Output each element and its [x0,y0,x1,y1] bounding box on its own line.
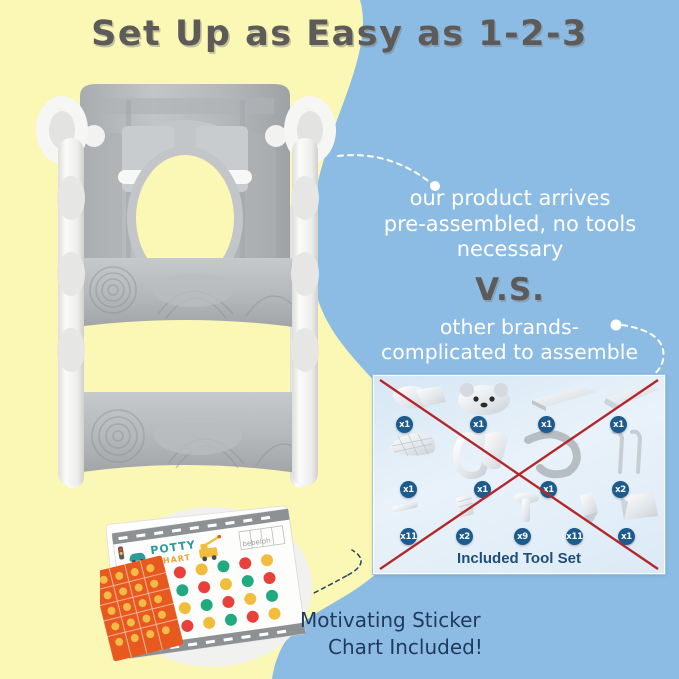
sticker-caption-line-1: Motivating Sticker [300,608,481,632]
sticker-chart-caption: Motivating Sticker Chart Included! [300,607,600,661]
infographic-canvas: Set Up as Easy as 1-2-3 [0,0,679,679]
sticker-caption-line-2: Chart Included! [300,634,600,661]
red-cross-out-icon [374,376,664,573]
callout-other-brands: other brands- complicated to assemble [340,315,679,365]
callout-line-3: necessary [355,237,665,263]
callout-line-1: our product arrives [355,186,665,212]
other-brands-line-2: complicated to assemble [340,340,679,365]
product-illustration [18,78,348,498]
callout-line-2: pre-assembled, no tools [355,212,665,238]
other-brands-line-1: other brands- [340,315,679,340]
included-tool-set-panel: x1 x1 x1 x1 x1 x1 x1 x2 x11 x2 x9 x11 x1… [373,375,665,574]
page-title: Set Up as Easy as 1-2-3 [0,14,679,54]
callout-pre-assembled: our product arrives pre-assembled, no to… [355,186,665,263]
vs-label: V.S. [355,272,665,308]
